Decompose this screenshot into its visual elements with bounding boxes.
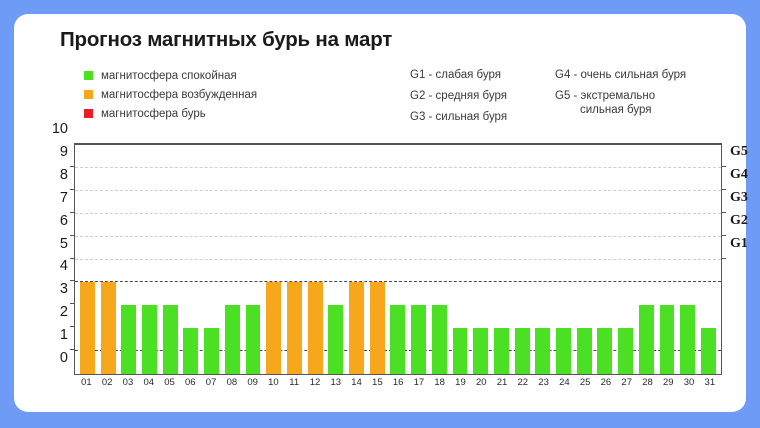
bar-slot[interactable]	[201, 145, 222, 374]
storm-scale-item-text: G4 - очень сильная буря	[555, 69, 686, 81]
y-axis-tick-mark	[70, 303, 75, 304]
bar[interactable]	[246, 305, 261, 374]
g-scale-tick-label: G2	[730, 213, 748, 229]
y-axis-tick-mark	[70, 258, 75, 259]
page-title: Прогноз магнитных бурь на март	[60, 28, 392, 52]
x-axis-label: 16	[388, 377, 409, 388]
x-axis-label: 14	[346, 377, 367, 388]
bar[interactable]	[349, 282, 364, 374]
legend-item-label: магнитосфера бурь	[101, 108, 206, 120]
bar[interactable]	[121, 305, 136, 374]
storm-scale-item: G3 - сильная буря	[410, 110, 507, 124]
bar-slot[interactable]	[698, 145, 719, 374]
x-axis-label: 26	[596, 377, 617, 388]
g-scale-tick-label: G4	[730, 167, 748, 183]
bar-slot[interactable]	[367, 145, 388, 374]
bar-slot[interactable]	[491, 145, 512, 374]
y-axis-tick-label: 10	[52, 121, 68, 137]
g-scale-tick-mark	[721, 212, 726, 213]
bar-slot[interactable]	[222, 145, 243, 374]
y-axis-tick-label: 1	[60, 327, 68, 343]
x-axis-label: 20	[471, 377, 492, 388]
y-axis-tick-label: 3	[60, 281, 68, 297]
bar-slot[interactable]	[553, 145, 574, 374]
bar-series	[77, 145, 719, 374]
y-axis-tick-mark	[70, 166, 75, 167]
y-axis-tick-label: 6	[60, 213, 68, 229]
storm-scale-item-text-continued: сильная буря	[555, 103, 686, 117]
x-axis-label: 09	[242, 377, 263, 388]
bar[interactable]	[453, 328, 468, 374]
g-scale-tick-mark	[721, 166, 726, 167]
bar[interactable]	[370, 282, 385, 374]
storm-scale-item-text: G3 - сильная буря	[410, 111, 507, 123]
bar[interactable]	[411, 305, 426, 374]
bar-slot[interactable]	[595, 145, 616, 374]
x-axis-label: 04	[138, 377, 159, 388]
x-axis-label: 28	[637, 377, 658, 388]
bar-slot[interactable]	[574, 145, 595, 374]
g-scale-tick-label: G1	[730, 236, 748, 252]
bar[interactable]	[680, 305, 695, 374]
bar-slot[interactable]	[450, 145, 471, 374]
y-axis-tick-label: 8	[60, 167, 68, 183]
bar[interactable]	[163, 305, 178, 374]
x-axis-label: 25	[575, 377, 596, 388]
x-axis-label: 31	[699, 377, 720, 388]
bar[interactable]	[556, 328, 571, 374]
bar-slot[interactable]	[615, 145, 636, 374]
x-axis-label: 15	[367, 377, 388, 388]
storm-scale-item: G1 - слабая буря	[410, 68, 507, 82]
magnetic-storm-bar-chart: 012345678910 G1G2G3G4G5 0102030405060708…	[60, 141, 740, 396]
y-axis-tick-mark	[70, 212, 75, 213]
y-axis-tick-mark	[70, 280, 75, 281]
legend: магнитосфера спокойнаямагнитосфера возбу…	[84, 67, 257, 124]
bar[interactable]	[328, 305, 343, 374]
storm-scale-column-2: G4 - очень сильная буряG5 - экстремально…	[555, 68, 686, 124]
bar-slot[interactable]	[657, 145, 678, 374]
x-axis-label: 23	[533, 377, 554, 388]
y-axis-tick-label: 5	[60, 236, 68, 252]
legend-item-label: магнитосфера спокойная	[101, 70, 237, 82]
x-axis-label: 22	[512, 377, 533, 388]
bar-slot[interactable]	[243, 145, 264, 374]
square-swatch-orange	[84, 90, 93, 99]
x-axis-label: 17	[409, 377, 430, 388]
bar-slot[interactable]	[388, 145, 409, 374]
legend-item: магнитосфера бурь	[84, 105, 257, 122]
x-axis-label: 05	[159, 377, 180, 388]
bar[interactable]	[660, 305, 675, 374]
bar[interactable]	[577, 328, 592, 374]
bar-slot[interactable]	[470, 145, 491, 374]
bar[interactable]	[266, 282, 281, 374]
x-axis-label: 19	[450, 377, 471, 388]
y-axis-tick-mark	[70, 349, 75, 350]
bar-slot[interactable]	[98, 145, 119, 374]
storm-scale-item-text: G5 - экстремально	[555, 90, 655, 102]
bar[interactable]	[142, 305, 157, 374]
storm-scale-item: G4 - очень сильная буря	[555, 68, 686, 82]
x-axis-label: 06	[180, 377, 201, 388]
g-scale-tick-mark	[721, 189, 726, 190]
legend-item: магнитосфера возбужденная	[84, 86, 257, 103]
y-axis-tick-label: 7	[60, 190, 68, 206]
bar-slot[interactable]	[305, 145, 326, 374]
g-scale-tick-label: G5	[730, 144, 748, 160]
bar-slot[interactable]	[181, 145, 202, 374]
x-axis-label: 08	[221, 377, 242, 388]
storm-scale-item-text: G2 - средняя буря	[410, 90, 507, 102]
bar-slot[interactable]	[512, 145, 533, 374]
bar[interactable]	[390, 305, 405, 374]
x-axis-label: 11	[284, 377, 305, 388]
y-axis-tick-mark	[70, 189, 75, 190]
bar[interactable]	[183, 328, 198, 374]
bar-slot[interactable]	[408, 145, 429, 374]
x-axis-label: 24	[554, 377, 575, 388]
bar[interactable]	[535, 328, 550, 374]
bar-slot[interactable]	[677, 145, 698, 374]
bar[interactable]	[597, 328, 612, 374]
x-axis-label: 12	[305, 377, 326, 388]
x-axis-label: 01	[76, 377, 97, 388]
storm-scale-item: G5 - экстремальносильная буря	[555, 89, 686, 117]
bar[interactable]	[432, 305, 447, 374]
y-axis-tick-label: 0	[60, 350, 68, 366]
bar[interactable]	[701, 328, 716, 374]
bar[interactable]	[101, 282, 116, 374]
y-axis-tick-label: 4	[60, 258, 68, 274]
x-axis-label: 27	[616, 377, 637, 388]
bar[interactable]	[308, 282, 323, 374]
x-axis-label: 07	[201, 377, 222, 388]
bar-slot[interactable]	[284, 145, 305, 374]
x-axis-label: 02	[97, 377, 118, 388]
storm-scale-item-text: G1 - слабая буря	[410, 69, 501, 81]
y-axis-tick-mark	[70, 235, 75, 236]
x-axis-label: 18	[429, 377, 450, 388]
y-axis-tick-label: 2	[60, 304, 68, 320]
bar-slot[interactable]	[160, 145, 181, 374]
bar[interactable]	[225, 305, 240, 374]
x-axis-label: 03	[118, 377, 139, 388]
bar[interactable]	[204, 328, 219, 374]
plot-area: 012345678910 G1G2G3G4G5	[74, 143, 722, 375]
bar-slot[interactable]	[636, 145, 657, 374]
bar[interactable]	[515, 328, 530, 374]
storm-scale-column-1: G1 - слабая буряG2 - средняя буряG3 - си…	[410, 68, 507, 131]
storm-scale-item: G2 - средняя буря	[410, 89, 507, 103]
bar-slot[interactable]	[118, 145, 139, 374]
square-swatch-red	[84, 109, 93, 118]
x-axis-label: 21	[492, 377, 513, 388]
x-axis-day-labels: 0102030405060708091011121314151617181920…	[76, 377, 720, 388]
legend-item-label: магнитосфера возбужденная	[101, 89, 257, 101]
bar-slot[interactable]	[139, 145, 160, 374]
g-scale-tick-mark	[721, 235, 726, 236]
bar[interactable]	[287, 282, 302, 374]
g-scale-tick-label: G3	[730, 190, 748, 206]
y-axis-tick-label: 9	[60, 144, 68, 160]
x-axis-label: 29	[658, 377, 679, 388]
bar-slot[interactable]	[346, 145, 367, 374]
x-axis-label: 13	[325, 377, 346, 388]
g-scale-tick-mark	[721, 258, 726, 259]
bar[interactable]	[618, 328, 633, 374]
bar[interactable]	[639, 305, 654, 374]
x-axis-label: 10	[263, 377, 284, 388]
bar[interactable]	[494, 328, 509, 374]
chart-card: Прогноз магнитных бурь на март магнитосф…	[14, 14, 746, 412]
bar[interactable]	[80, 282, 95, 374]
bar-slot[interactable]	[532, 145, 553, 374]
x-axis-label: 30	[679, 377, 700, 388]
bar-slot[interactable]	[77, 145, 98, 374]
legend-item: магнитосфера спокойная	[84, 67, 257, 84]
bar-slot[interactable]	[429, 145, 450, 374]
bar-slot[interactable]	[325, 145, 346, 374]
bar[interactable]	[473, 328, 488, 374]
bar-slot[interactable]	[263, 145, 284, 374]
y-axis-tick-mark	[70, 326, 75, 327]
square-swatch-green	[84, 71, 93, 80]
